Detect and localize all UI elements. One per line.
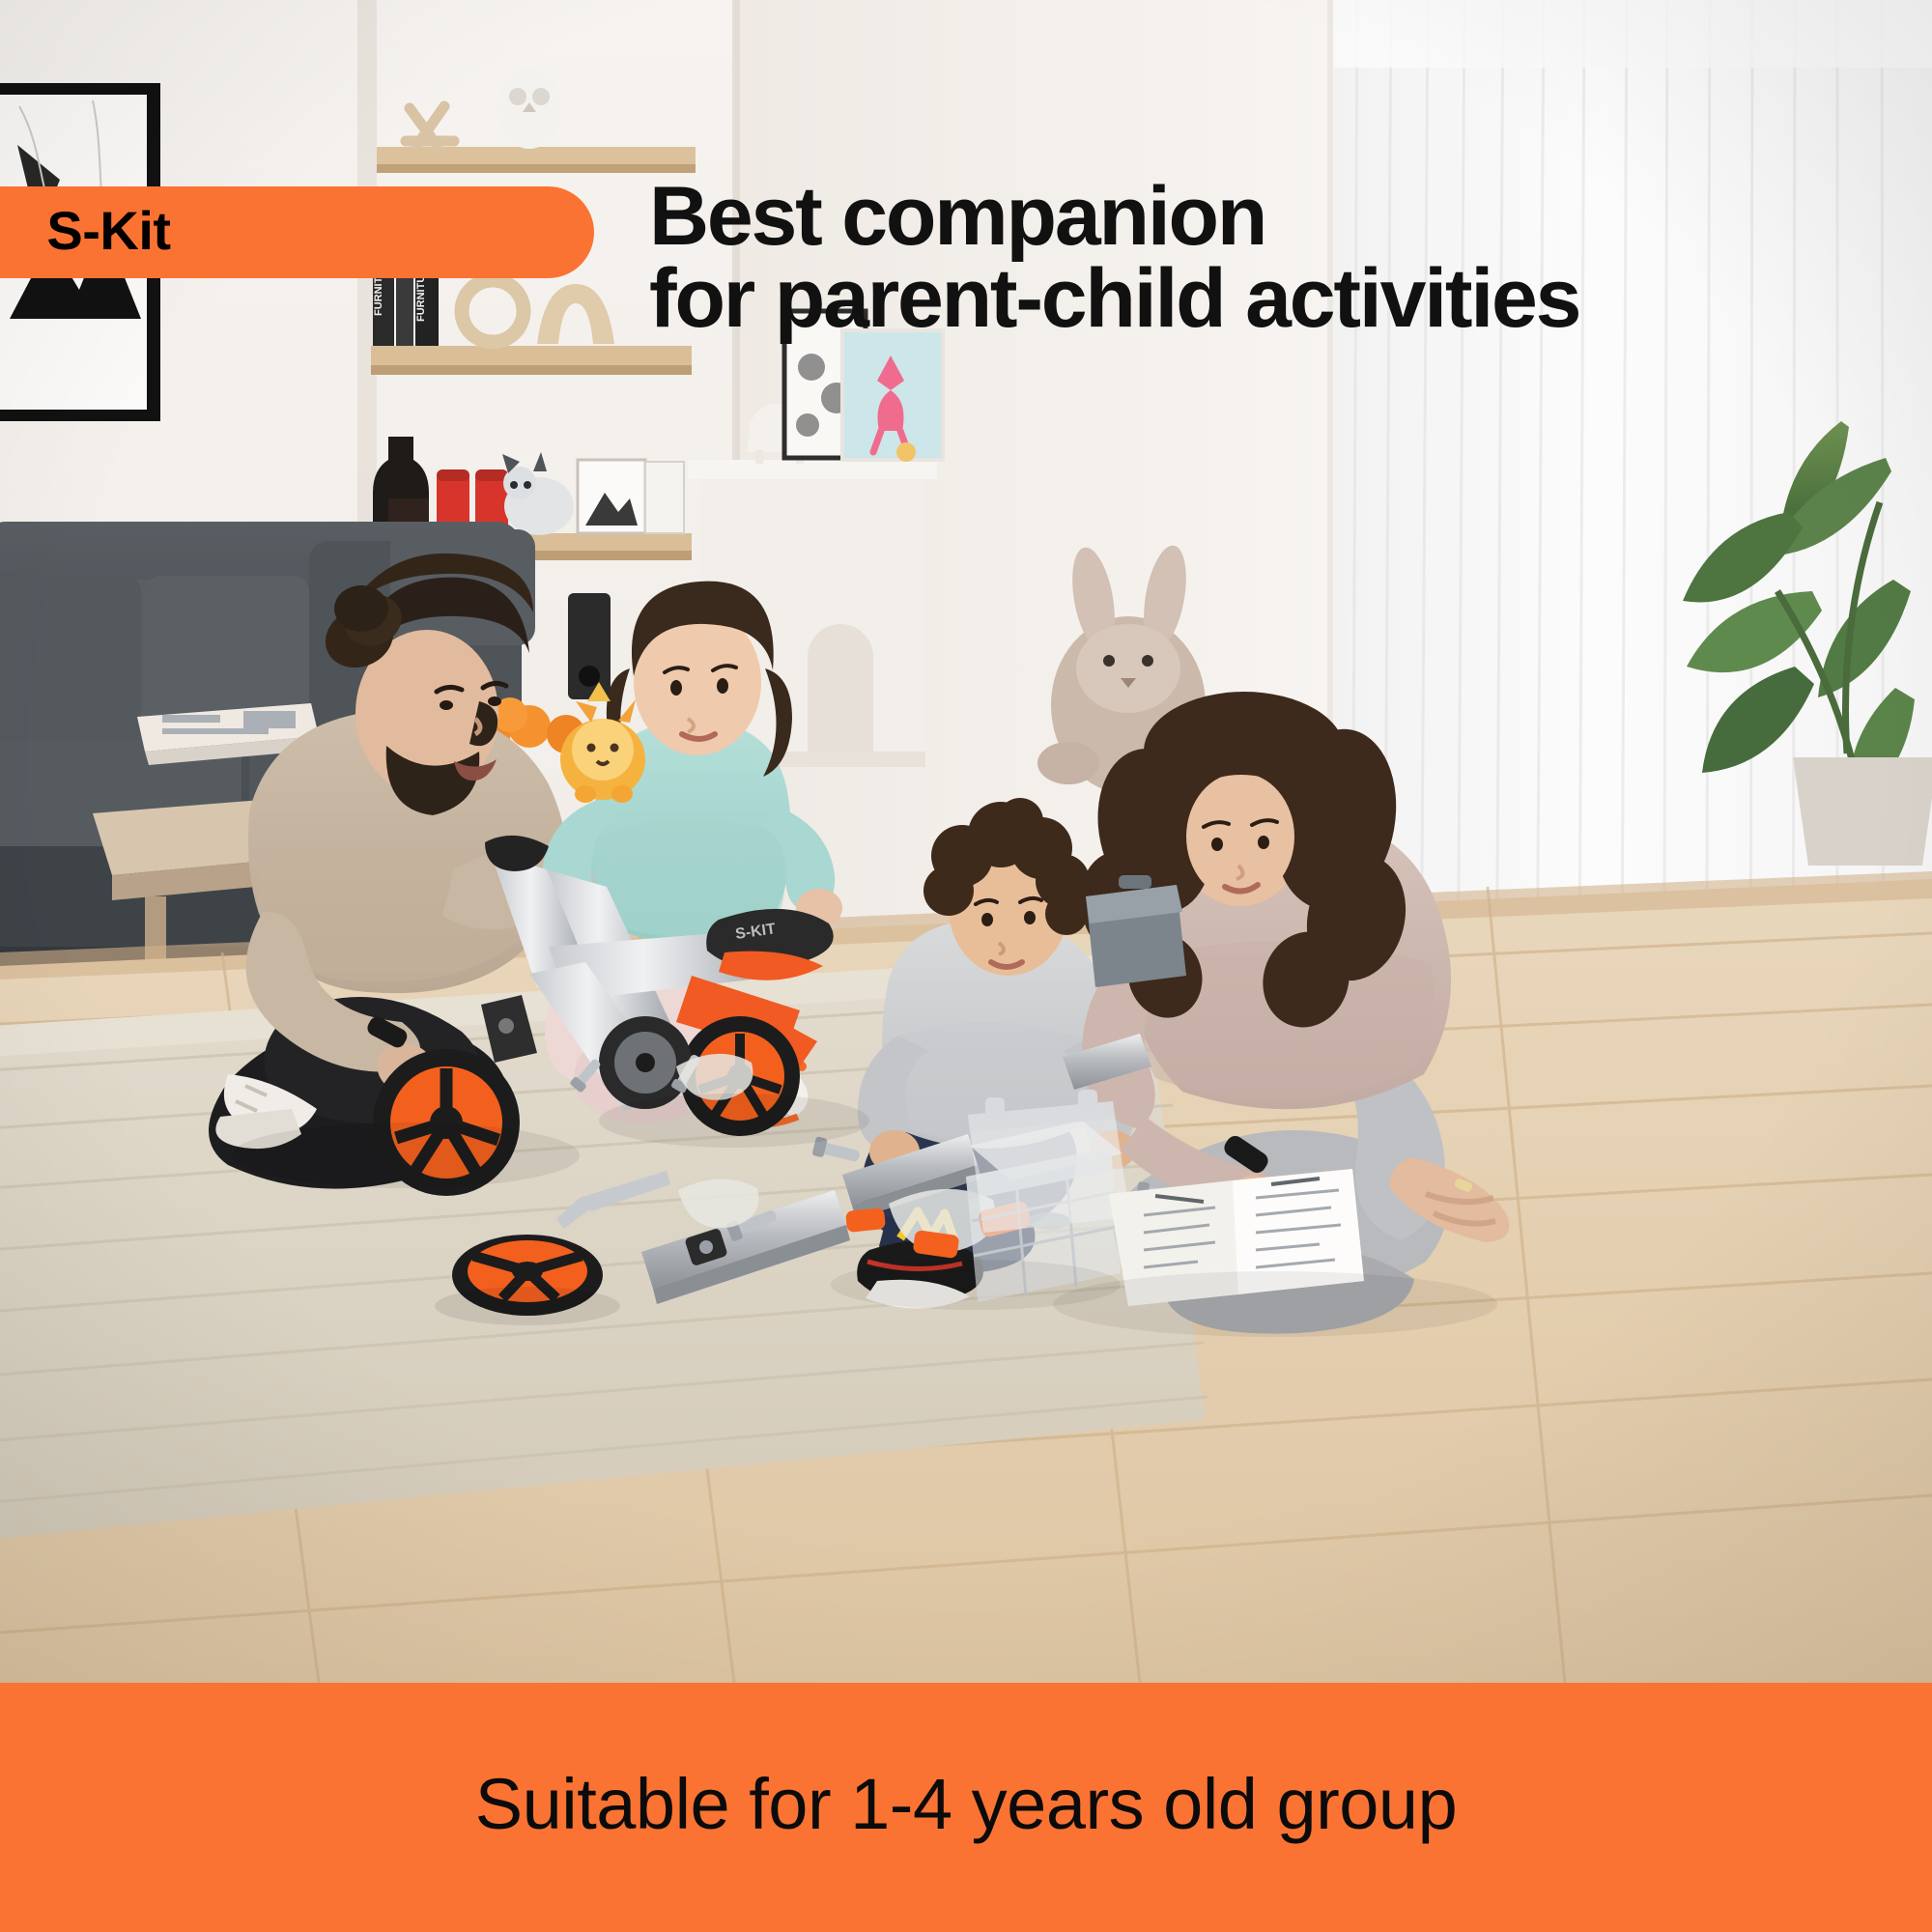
brand-badge-label: S-Kit: [46, 204, 489, 262]
headline-line-1: Best companion: [649, 176, 1579, 258]
product-marketing-poster: FURNITURE FURNITURE: [0, 0, 1932, 1932]
headline-line-2: for parent-child activities: [649, 258, 1579, 340]
age-suitability-text: Suitable for 1-4 years old group: [475, 1763, 1458, 1853]
brand-badge: S-Kit: [0, 186, 594, 278]
age-suitability-banner: Suitable for 1-4 years old group: [0, 1683, 1932, 1932]
headline: Best companion for parent-child activiti…: [649, 176, 1579, 340]
